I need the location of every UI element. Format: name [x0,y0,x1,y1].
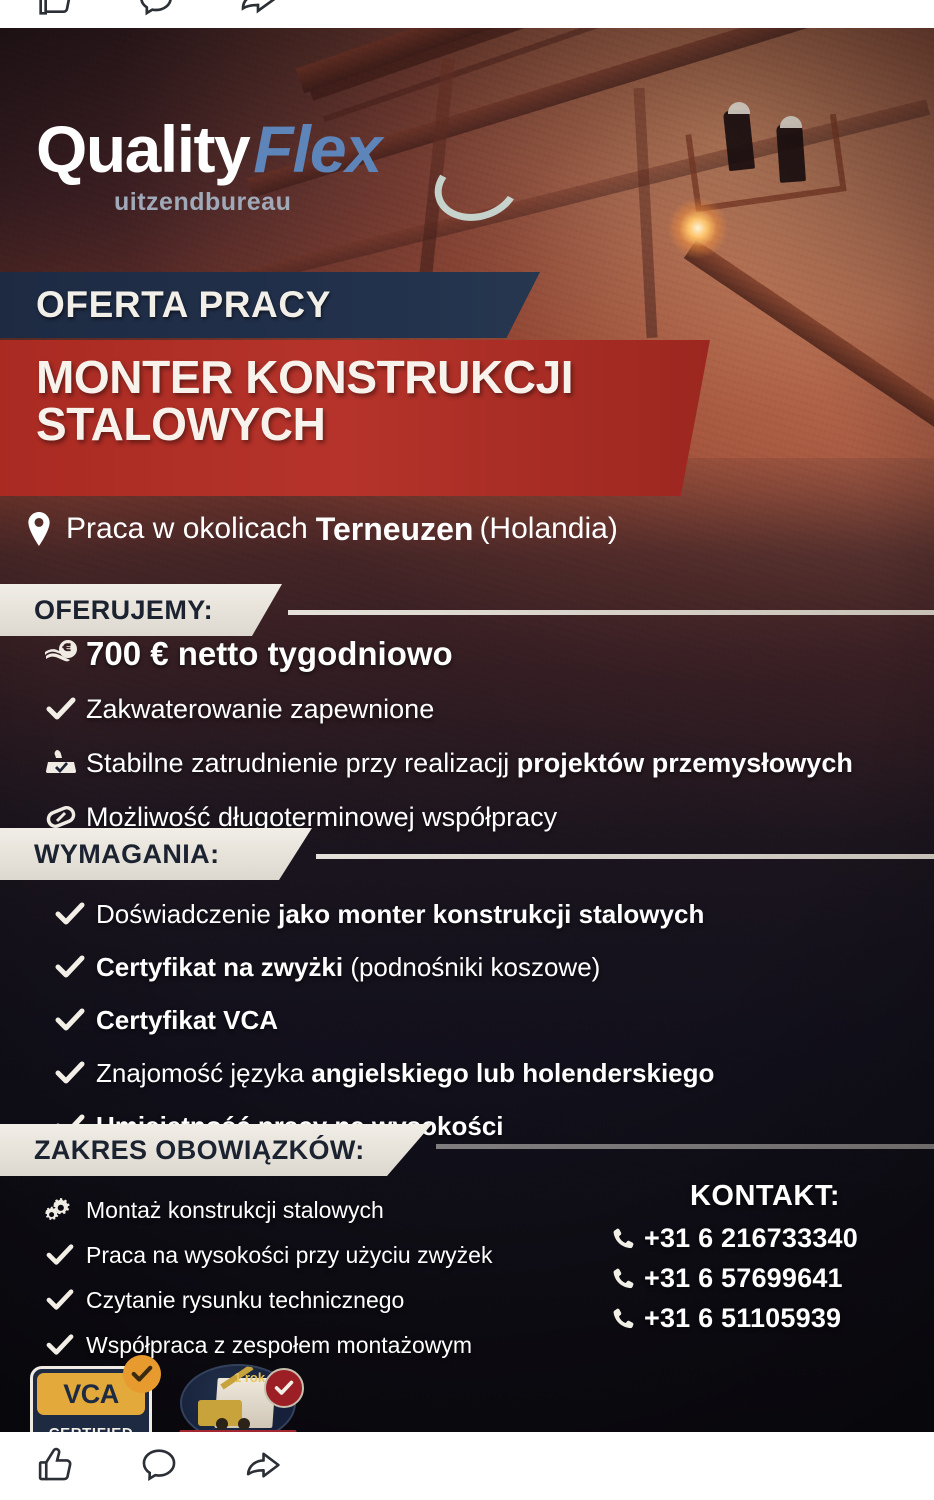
like-icon[interactable] [34,1444,76,1486]
list-item: Certyfikat na zwyżki (podnośniki koszowe… [44,949,924,985]
location-bar: Praca w okolicach Terneuzen (Holandia) [0,496,835,562]
map-pin-icon [26,512,52,546]
section-header-duties-label: ZAKRES OBOWIĄZKÓW: [34,1135,365,1166]
req-text-bold: jako monter konstrukcji stalowych [278,899,704,929]
check-icon [34,1284,86,1316]
job-title-line-1: MONTER KONSTRUKCJI [36,354,710,401]
badge-corner-label: 1 rok [234,1370,265,1385]
phone-number: +31 6 51105939 [644,1303,841,1334]
comment-icon[interactable] [138,1444,180,1486]
like-icon[interactable] [34,0,74,20]
list-item-text: Znajomość języka angielskiego lub holend… [96,1055,714,1091]
vca-subtitle: CERTIFIED [33,1425,149,1432]
list-item-text: Doświadczenie jako monter konstrukcji st… [96,896,704,932]
list-item: Znajomość języka angielskiego lub holend… [44,1055,924,1091]
check-icon [44,1055,96,1091]
section-header-requirements: WYMAGANIA: [0,828,312,880]
list-item: Współpraca z zespołem montażowym [34,1329,604,1361]
location-prefix: Praca w okolicach [66,512,308,546]
offer-banner-label: OFERTA PRACY [36,284,331,326]
req-text-tail: (podnośniki koszowe) [343,952,600,982]
check-icon [44,896,96,932]
req-text-plain: Znajomość języka [96,1058,311,1088]
bottom-social-bar [0,1432,934,1500]
certification-badges: VCA CERTIFIED 1 rok [30,1364,302,1432]
list-item-text: 700 € netto tygodniowo [86,634,453,674]
req-text-plain: Doświadczenie [96,899,278,929]
list-item-text: Zakwaterowanie zapewnione [86,690,434,728]
list-item: Certyfikat VCA [44,1002,924,1038]
section-rule [288,610,934,615]
gears-icon [34,1194,86,1226]
req-text-bold: Certyfikat VCA [96,1005,278,1035]
check-icon [34,1239,86,1271]
requirements-list: Doświadczenie jako monter konstrukcji st… [44,896,924,1161]
share-icon[interactable] [238,0,278,20]
list-item: Montaż konstrukcji stalowych [34,1194,604,1226]
job-title-line-2: STALOWYCH [36,401,710,448]
req-text-bold: angielskiego lub holenderskiego [311,1058,714,1088]
phone-row[interactable]: +31 6 216733340 [610,1223,920,1254]
wheel [216,1418,228,1430]
wheel [238,1418,250,1430]
list-item: Praca na wysokości przy użyciu zwyżek [34,1239,604,1271]
list-item: Czytanie rysunku technicznego [34,1284,604,1316]
offer-salary: 700 € netto tygodniowo [86,635,453,672]
money-hand-euro-icon [36,634,86,674]
section-header-requirements-label: WYMAGANIA: [34,839,219,870]
list-item-text: Stabilne zatrudnienie przy realizacjj pr… [86,744,853,782]
phone-row[interactable]: +31 6 51105939 [610,1303,920,1334]
social-post-page: QualityFlex uitzendbureau OFERTA PRACY M… [0,0,934,1500]
lift-vehicle [198,1400,242,1426]
location-country: (Holandia) [479,512,617,546]
list-item-text: Praca na wysokości przy użyciu zwyżek [86,1239,492,1271]
phone-number: +31 6 216733340 [644,1223,858,1254]
phone-icon [610,1266,644,1292]
section-rule [316,854,934,859]
top-social-bar [0,0,934,28]
vca-title: VCA [63,1379,119,1410]
logo-word-quality: Quality [36,112,249,186]
duties-list: Montaż konstrukcji stalowych Praca na wy… [34,1194,604,1374]
offer-text-bold: projektów przemysłowych [517,748,853,778]
job-offer-poster: QualityFlex uitzendbureau OFERTA PRACY M… [0,28,934,1432]
check-badge-icon [264,1368,304,1408]
stamp-approval-icon [36,744,86,782]
job-title-banner: MONTER KONSTRUKCJI STALOWYCH [0,340,710,496]
location-city: Terneuzen [316,511,474,548]
offers-list: 700 € netto tygodniowo Zakwaterowanie za… [36,634,926,852]
list-item: Stabilne zatrudnienie przy realizacjj pr… [36,744,926,782]
vca-certified-badge: VCA CERTIFIED [30,1366,152,1432]
req-text-bold: Certyfikat na zwyżki [96,952,343,982]
list-item-text: Certyfikat VCA [96,1002,278,1038]
share-icon[interactable] [242,1444,284,1486]
contact-heading: KONTAKT: [610,1180,920,1213]
contact-block: KONTAKT: +31 6 216733340 +31 6 57699641 [610,1180,920,1343]
check-icon [44,1002,96,1038]
section-header-offers: OFERUJEMY: [0,584,282,636]
check-icon [34,1329,86,1361]
check-badge-icon [123,1355,161,1393]
list-item: Doświadczenie jako monter konstrukcji st… [44,896,924,932]
list-item-text: Czytanie rysunku technicznego [86,1284,404,1316]
list-item-text: Montaż konstrukcji stalowych [86,1194,384,1226]
logo-word-flex: Flex [253,112,381,186]
check-icon [44,949,96,985]
phone-icon [610,1226,644,1252]
section-header-offers-label: OFERUJEMY: [34,595,213,626]
list-item-text: Certyfikat na zwyżki (podnośniki koszowe… [96,949,600,985]
logo-tagline: uitzendbureau [114,188,291,217]
comment-icon[interactable] [136,0,176,20]
section-header-duties: ZAKRES OBOWIĄZKÓW: [0,1124,432,1176]
list-item: Zakwaterowanie zapewnione [36,690,926,728]
offer-banner: OFERTA PRACY [0,272,540,338]
offer-text-plain: Stabilne zatrudnienie przy realizacjj [86,748,517,778]
phone-row[interactable]: +31 6 57699641 [610,1263,920,1294]
phone-icon [610,1306,644,1332]
zwyzka-certificate-badge: 1 rok CERTYFIKAT NA ZWYŻKI [174,1364,302,1432]
check-icon [36,690,86,728]
phone-number: +31 6 57699641 [644,1263,843,1294]
section-rule [436,1144,934,1149]
company-logo: QualityFlex uitzendbureau [36,116,556,236]
list-item: 700 € netto tygodniowo [36,634,926,674]
